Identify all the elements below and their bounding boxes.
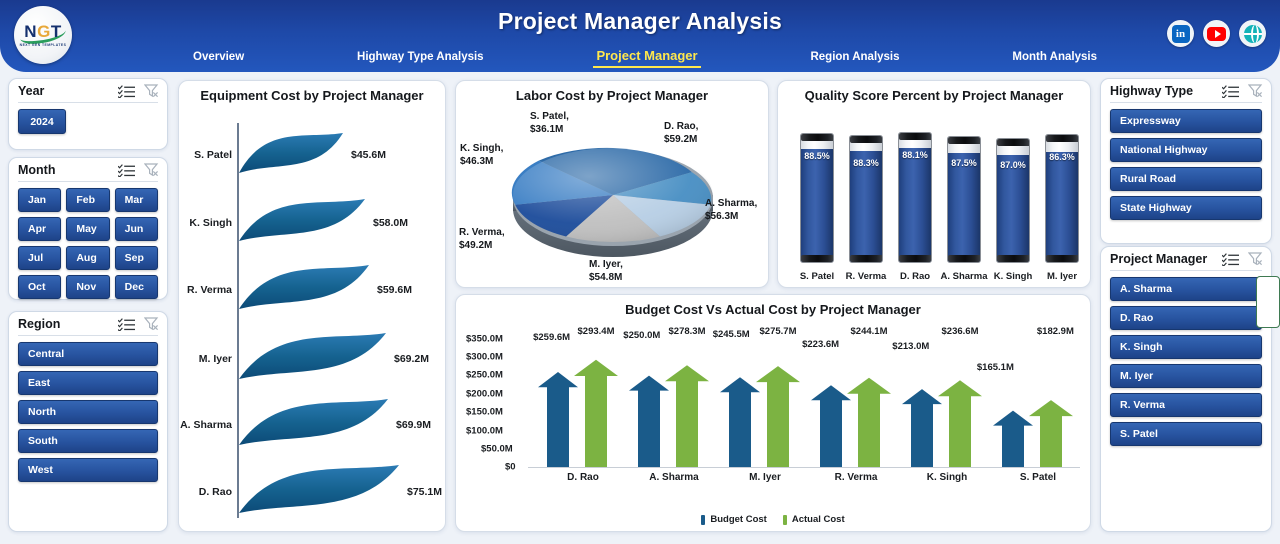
gauge-k-singh[interactable]: 87.0% K. Singh (996, 138, 1030, 263)
gauge-d-rao[interactable]: 88.1% D. Rao (898, 132, 932, 263)
slicer-highway-item-national-highway[interactable]: National Highway (1110, 138, 1262, 162)
gauge-label-k-singh: K. Singh (988, 271, 1038, 282)
equipment-ribbon-s-patel (239, 129, 343, 183)
budget-value-m-iyer: $245.5M (713, 329, 750, 340)
slicer-project-manager-header: Project Manager (1101, 247, 1271, 268)
gauge-a-sharma[interactable]: 87.5% A. Sharma (947, 136, 981, 263)
budget-arrow-r-verma[interactable]: $223.6M (811, 339, 851, 467)
clear-filter-icon[interactable] (144, 84, 159, 98)
gauge-fill-d-rao (899, 148, 931, 262)
budget-chart-legend: Budget Cost Actual Cost (456, 514, 1090, 525)
gauge-body-d-rao: 88.1% (898, 132, 932, 263)
multi-select-icon[interactable] (1222, 85, 1239, 98)
slicer-month-item-may[interactable]: May (66, 217, 109, 241)
gauge-value-s-patel: 88.5% (801, 151, 833, 161)
logo-wordmark: NGT (24, 23, 61, 40)
slicer-month-item-mar[interactable]: Mar (115, 188, 158, 212)
gauge-label-r-verma: R. Verma (841, 271, 891, 282)
clear-filter-icon[interactable] (144, 163, 159, 177)
nav-item-highway-type-analysis[interactable]: Highway Type Analysis (354, 49, 487, 65)
gauge-label-d-rao: D. Rao (890, 271, 940, 282)
gauge-label-a-sharma: A. Sharma (939, 271, 989, 282)
equipment-ribbon-a-sharma (239, 395, 388, 455)
gauge-value-a-sharma: 87.5% (948, 158, 980, 168)
slicer-project-manager-title: Project Manager (1110, 252, 1207, 266)
globe-icon (1244, 25, 1262, 43)
dashboard-header: NGT NEXT GEN TEMPLATES Project Manager A… (0, 0, 1280, 72)
gauge-fill-a-sharma (948, 153, 980, 262)
main-navigation: Overview Highway Type Analysis Project M… (190, 46, 1100, 68)
pie-label-m-iyer: M. Iyer, $54.8M (589, 259, 623, 284)
budget-ytick-350: $350.0M (466, 334, 503, 345)
slicer-highway-type-title: Highway Type (1110, 84, 1193, 98)
gauge-value-k-singh: 87.0% (997, 160, 1029, 170)
budget-ytick-50: $50.0M (481, 444, 513, 455)
gauge-cap-top-a-sharma (948, 137, 981, 144)
clear-filter-icon[interactable] (1248, 84, 1263, 98)
slicer-region-item-central[interactable]: Central (18, 342, 158, 366)
legend-swatch-budget (701, 515, 705, 525)
slicer-region-list: Central East North South West (9, 342, 167, 490)
slicer-divider (18, 181, 158, 182)
slicer-region-title: Region (18, 317, 60, 331)
slicer-pm-item-s-patel[interactable]: S. Patel (1110, 422, 1262, 446)
gauge-body-a-sharma: 87.5% (947, 136, 981, 263)
chart-quality-score-title: Quality Score Percent by Project Manager (778, 81, 1090, 104)
slicer-year-item-2024[interactable]: 2024 (18, 109, 66, 134)
legend-budget-cost[interactable]: Budget Cost (701, 514, 766, 525)
equipment-value-a-sharma: $69.9M (396, 419, 431, 431)
gauge-cap-top-d-rao (899, 133, 932, 140)
slicer-pm-item-d-rao[interactable]: D. Rao (1110, 306, 1262, 330)
youtube-icon (1207, 27, 1226, 41)
budget-ytick-0: $0 (505, 462, 516, 473)
actual-value-a-sharma: $278.3M (669, 326, 706, 337)
equipment-row-k-singh[interactable]: K. Singh $58.0M (239, 195, 365, 251)
actual-value-r-verma: $244.1M (851, 326, 888, 337)
gauge-cap-top-m-iyer (1046, 135, 1079, 142)
equipment-ribbon-k-singh (239, 195, 365, 251)
nav-item-region-analysis[interactable]: Region Analysis (807, 49, 902, 65)
youtube-button[interactable] (1203, 20, 1230, 47)
budget-ytick-100: $100.0M (466, 426, 503, 437)
equipment-value-d-rao: $75.1M (407, 486, 442, 498)
budget-arrow-m-iyer[interactable]: $245.5M (720, 339, 760, 467)
slicer-region-item-south[interactable]: South (18, 429, 158, 453)
budget-xlabel-m-iyer: M. Iyer (749, 472, 781, 483)
multi-select-icon[interactable] (118, 318, 135, 331)
gauge-s-patel[interactable]: 88.5% S. Patel (800, 133, 834, 263)
budget-arrow-k-singh[interactable]: $213.0M (902, 339, 942, 467)
slicer-highway-item-state-highway[interactable]: State Highway (1110, 196, 1262, 220)
chart-quality-score: Quality Score Percent by Project Manager… (777, 80, 1091, 288)
gauge-value-m-iyer: 86.3% (1046, 152, 1078, 162)
gauge-cap-bottom-d-rao (899, 255, 932, 262)
budget-ytick-250: $250.0M (466, 370, 503, 381)
equipment-value-r-verma: $59.6M (377, 284, 412, 296)
gauge-cap-bottom-k-singh (997, 255, 1030, 262)
multi-select-icon[interactable] (1222, 253, 1239, 266)
equipment-row-r-verma[interactable]: R. Verma $59.6M (239, 261, 369, 319)
equipment-ribbon-m-iyer (239, 329, 386, 389)
budget-xlabel-k-singh: K. Singh (927, 472, 968, 483)
equipment-value-k-singh: $58.0M (373, 217, 408, 229)
slicer-divider (18, 335, 158, 336)
slicer-highway-type: Highway Type Expressway National Highway… (1100, 78, 1272, 244)
nav-item-project-manager[interactable]: Project Manager (593, 46, 700, 68)
slicer-month-item-apr[interactable]: Apr (18, 217, 61, 241)
clear-filter-icon[interactable] (1248, 252, 1263, 266)
equipment-value-m-iyer: $69.2M (394, 353, 429, 365)
slicer-month-item-nov[interactable]: Nov (66, 275, 109, 299)
chart-labor-cost: Labor Cost by Project Manager (455, 80, 769, 288)
slicer-pm-item-m-iyer[interactable]: M. Iyer (1110, 364, 1262, 388)
equipment-ribbon-d-rao (239, 461, 399, 523)
gauge-value-d-rao: 88.1% (899, 150, 931, 160)
budget-arrow-a-sharma[interactable]: $250.0M (629, 339, 669, 467)
gauge-body-k-singh: 87.0% (996, 138, 1030, 263)
gauge-fill-s-patel (801, 149, 833, 262)
gauge-m-iyer[interactable]: 86.3% M. Iyer (1045, 134, 1079, 263)
slicer-month-item-jan[interactable]: Jan (18, 188, 61, 212)
slicer-region-header: Region (9, 312, 167, 333)
gauge-cap-top-s-patel (801, 134, 834, 141)
slicer-highway-item-rural-road[interactable]: Rural Road (1110, 167, 1262, 191)
equipment-value-s-patel: $45.6M (351, 149, 386, 161)
budget-xlabel-r-verma: R. Verma (835, 472, 878, 483)
actual-arrow-a-sharma[interactable]: $278.3M (665, 339, 709, 467)
budget-xlabel-d-rao: D. Rao (567, 472, 599, 483)
slicer-year-header: Year (9, 79, 167, 100)
legend-label-actual: Actual Cost (792, 514, 845, 525)
budget-xlabel-s-patel: S. Patel (1020, 472, 1056, 483)
equipment-row-d-rao[interactable]: D. Rao $75.1M (239, 461, 399, 523)
slicer-region-item-west[interactable]: West (18, 458, 158, 482)
logo-letter-g: G (37, 22, 51, 41)
equipment-label-s-patel: S. Patel (194, 149, 232, 161)
legend-actual-cost[interactable]: Actual Cost (783, 514, 845, 525)
gauge-cap-top-k-singh (997, 139, 1030, 146)
pie-label-s-patel: S. Patel, $36.1M (530, 111, 569, 136)
actual-arrow-m-iyer[interactable]: $275.7M (756, 339, 800, 467)
linkedin-button[interactable]: in (1167, 20, 1194, 47)
chart-budget-vs-actual: Budget Cost Vs Actual Cost by Project Ma… (455, 294, 1091, 532)
equipment-row-a-sharma[interactable]: A. Sharma $69.9M (239, 395, 388, 455)
slicer-month-item-aug[interactable]: Aug (66, 246, 109, 270)
chart-equipment-cost-title: Equipment Cost by Project Manager (179, 81, 445, 104)
slicer-month-list: Jan Feb Mar Apr May Jun Jul Aug Sep Oct … (9, 188, 167, 307)
gauge-body-s-patel: 88.5% (800, 133, 834, 263)
gauge-body-r-verma: 88.3% (849, 135, 883, 263)
website-button[interactable] (1239, 20, 1266, 47)
actual-value-s-patel: $182.9M (1037, 326, 1074, 337)
budget-arrow-s-patel[interactable]: $165.1M (993, 339, 1033, 467)
slicer-month: Month Jan Feb Mar Apr May Jun Jul Aug Se… (8, 157, 168, 300)
social-links: in (1167, 20, 1266, 47)
clear-filter-icon[interactable] (144, 317, 159, 331)
gauge-fill-m-iyer (1046, 152, 1078, 262)
equipment-label-d-rao: D. Rao (199, 486, 232, 498)
slicer-project-manager-list: A. Sharma D. Rao K. Singh M. Iyer R. Ver… (1101, 277, 1271, 454)
budget-xlabel-a-sharma: A. Sharma (649, 472, 698, 483)
pie-label-k-singh: K. Singh, $46.3M (460, 143, 503, 168)
slicer-year: Year 2024 (8, 78, 168, 150)
nav-item-month-analysis[interactable]: Month Analysis (1009, 49, 1100, 65)
slicer-year-title: Year (18, 84, 44, 98)
actual-arrow-s-patel[interactable]: $182.9M (1029, 339, 1073, 467)
gauge-cap-bottom-s-patel (801, 255, 834, 262)
slicer-pm-item-k-singh[interactable]: K. Singh (1110, 335, 1262, 359)
slicer-month-title: Month (18, 163, 55, 177)
gauge-cap-bottom-r-verma (850, 255, 883, 262)
slicer-month-item-jun[interactable]: Jun (115, 217, 158, 241)
multi-select-icon[interactable] (118, 164, 135, 177)
slicer-month-item-sep[interactable]: Sep (115, 246, 158, 270)
equipment-row-m-iyer[interactable]: M. Iyer $69.2M (239, 329, 386, 389)
nav-item-overview[interactable]: Overview (190, 49, 247, 65)
gauge-body-m-iyer: 86.3% (1045, 134, 1079, 263)
budget-ytick-300: $300.0M (466, 352, 503, 363)
slicer-highway-type-list: Expressway National Highway Rural Road S… (1101, 109, 1271, 228)
actual-value-k-singh: $236.6M (942, 326, 979, 337)
slicer-month-item-oct[interactable]: Oct (18, 275, 61, 299)
gauge-cap-bottom-a-sharma (948, 255, 981, 262)
pie-label-d-rao: D. Rao, $59.2M (664, 121, 698, 146)
actual-arrow-d-rao[interactable]: $293.4M (574, 339, 618, 467)
slicer-month-header: Month (9, 158, 167, 179)
slicer-month-item-jul[interactable]: Jul (18, 246, 61, 270)
gauge-cap-bottom-m-iyer (1046, 255, 1079, 262)
budget-ytick-150: $150.0M (466, 407, 503, 418)
slicer-pm-item-a-sharma[interactable]: A. Sharma (1110, 277, 1262, 301)
logo-letter-n: N (24, 22, 37, 41)
pie-label-r-verma: R. Verma, $49.2M (459, 227, 505, 252)
gauge-value-r-verma: 88.3% (850, 158, 882, 168)
budget-ytick-200: $200.0M (466, 389, 503, 400)
equipment-label-k-singh: K. Singh (189, 217, 232, 229)
equipment-row-s-patel[interactable]: S. Patel $45.6M (239, 129, 343, 183)
linkedin-icon: in (1172, 25, 1190, 43)
gauge-r-verma[interactable]: 88.3% R. Verma (849, 135, 883, 263)
budget-axis-line (528, 467, 1080, 468)
actual-value-m-iyer: $275.7M (760, 326, 797, 337)
legend-label-budget: Budget Cost (710, 514, 766, 525)
slicer-month-item-feb[interactable]: Feb (66, 188, 109, 212)
legend-swatch-actual (783, 515, 787, 525)
slicer-highway-item-expressway[interactable]: Expressway (1110, 109, 1262, 133)
slicer-pm-item-r-verma[interactable]: R. Verma (1110, 393, 1262, 417)
chart-labor-cost-title: Labor Cost by Project Manager (456, 81, 768, 104)
chart-equipment-cost: Equipment Cost by Project Manager S. Pat… (178, 80, 446, 532)
page-title: Project Manager Analysis (0, 8, 1280, 35)
actual-arrow-r-verma[interactable]: $244.1M (847, 339, 891, 467)
equipment-label-m-iyer: M. Iyer (199, 353, 232, 365)
slicer-region-item-north[interactable]: North (18, 400, 158, 424)
gauge-fill-k-singh (997, 155, 1029, 262)
slicer-region: Region Central East North South West (8, 311, 168, 532)
equipment-ribbon-r-verma (239, 261, 369, 319)
pie-label-a-sharma: A. Sharma, $56.3M (705, 198, 757, 223)
chart-budget-vs-actual-title: Budget Cost Vs Actual Cost by Project Ma… (456, 295, 1090, 318)
multi-select-icon[interactable] (118, 85, 135, 98)
slicer-divider (1110, 102, 1262, 103)
offscreen-panel-edge (1256, 276, 1280, 328)
actual-value-d-rao: $293.4M (578, 326, 615, 337)
logo-letter-t: T (51, 22, 62, 41)
equipment-label-a-sharma: A. Sharma (180, 419, 232, 431)
slicer-month-item-dec[interactable]: Dec (115, 275, 158, 299)
budget-arrow-d-rao[interactable]: $259.6M (538, 339, 578, 467)
gauge-label-m-iyer: M. Iyer (1037, 271, 1087, 282)
equipment-label-r-verma: R. Verma (187, 284, 232, 296)
slicer-divider (18, 102, 158, 103)
gauge-label-s-patel: S. Patel (792, 271, 842, 282)
slicer-region-item-east[interactable]: East (18, 371, 158, 395)
slicer-divider (1110, 270, 1262, 271)
logo-subtitle: NEXT GEN TEMPLATES (20, 43, 67, 47)
actual-arrow-k-singh[interactable]: $236.6M (938, 339, 982, 467)
slicer-project-manager: Project Manager A. Sharma D. Rao K. Sing… (1100, 246, 1272, 532)
gauge-cap-top-r-verma (850, 136, 883, 143)
slicer-highway-type-header: Highway Type (1101, 79, 1271, 100)
